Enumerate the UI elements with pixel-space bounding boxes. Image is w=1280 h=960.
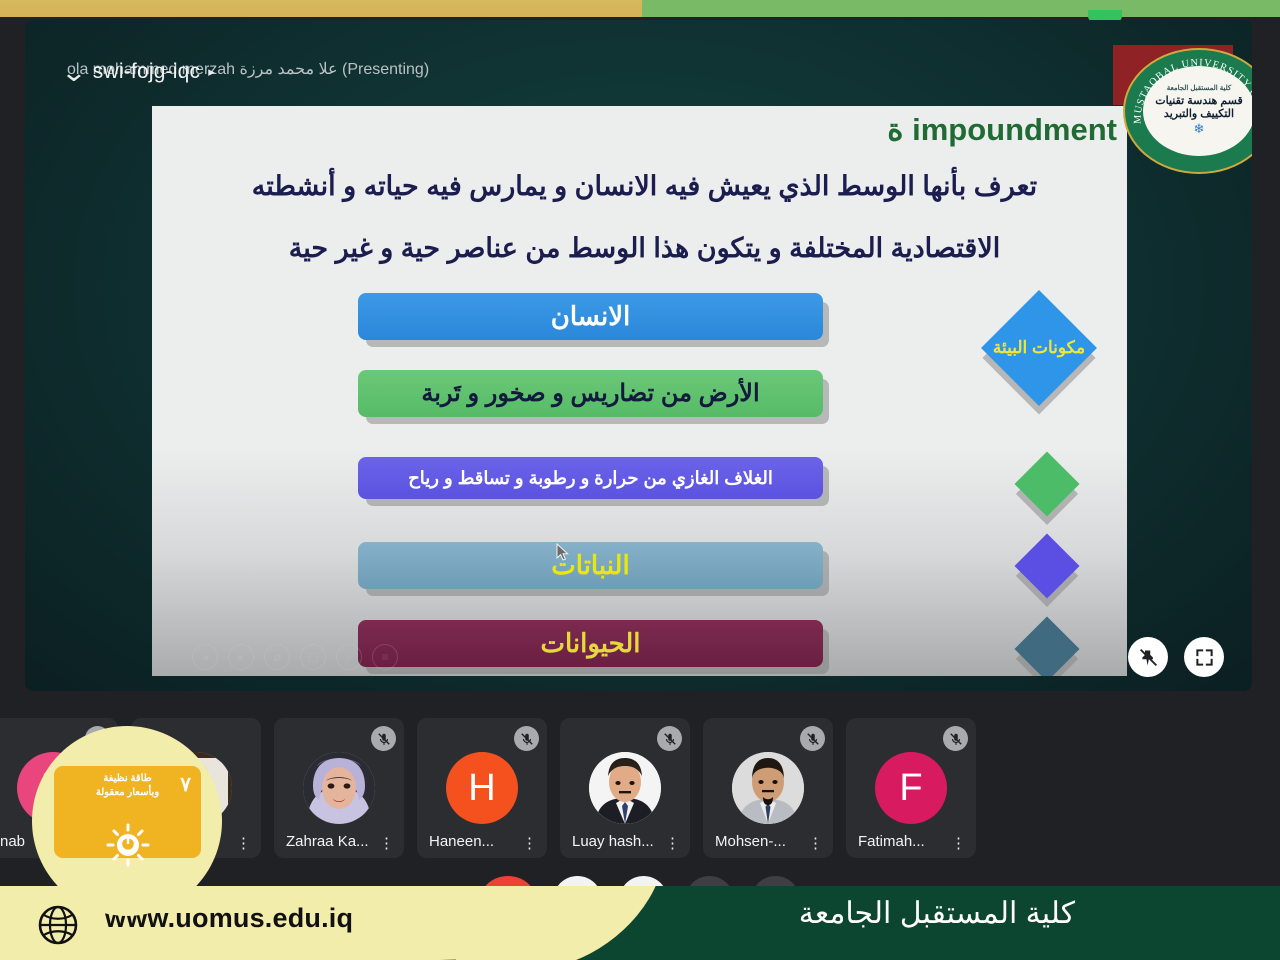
- participant-name: nab: [0, 833, 25, 850]
- more-vertical-icon[interactable]: ⋮: [808, 838, 823, 849]
- participant-name: Haneen...: [429, 833, 494, 850]
- more-vertical-icon[interactable]: ⋮: [665, 838, 680, 849]
- institution-banner: www.uomus.edu.iq كلية المستقبل الجامعة: [0, 886, 1280, 960]
- slide-title: impoundment ة: [687, 112, 1117, 148]
- stage-tool-buttons[interactable]: [1128, 637, 1224, 677]
- sdg-card: ٧ طاقة نظيفة وبأسعار معقولة: [54, 766, 201, 858]
- university-logo: AL-MUSTAQBAL UNIVERSITY COLLEGE كلية الم…: [1113, 45, 1252, 177]
- globe-icon: [37, 904, 79, 946]
- slide-grid-icon[interactable]: ▢: [300, 644, 326, 670]
- participant-name: Fatimah...: [858, 833, 925, 850]
- participant-tile[interactable]: Mohsen-... ⋮: [703, 718, 833, 858]
- avatar: [732, 752, 804, 824]
- more-vertical-icon[interactable]: ⋮: [236, 838, 251, 849]
- participant-name: Zahraa Ka...: [286, 833, 369, 850]
- more-vertical-icon[interactable]: ⋮: [951, 838, 966, 849]
- meeting-code-bar[interactable]: ⌄ swi-fojg-iqc ▸: [63, 60, 215, 84]
- slide-prev-button[interactable]: ◂: [192, 644, 218, 670]
- top-banner-strip: [0, 0, 1280, 17]
- slide-paragraph-line-2: الاقتصادية المختلفة و يتكون هذا الوسط من…: [182, 232, 1107, 266]
- app-root: ola mohammed merzah علا محمد مرزة (Prese…: [0, 0, 1280, 960]
- slide-bar-animals: الحيوانات: [358, 620, 823, 667]
- slide-control-strip[interactable]: ◂ ▸ ⌀ ▢ ⌕ ≡: [192, 644, 398, 670]
- slide-bar-atmosphere: الغلاف الغازي من حرارة و رطوبة و تساقط و…: [358, 457, 823, 499]
- chevron-right-icon[interactable]: ▸: [208, 64, 215, 80]
- unpin-icon: [1138, 647, 1159, 668]
- slide-diamond-green: [1014, 451, 1079, 516]
- avatar: [303, 752, 375, 824]
- sdg-line-1: طاقة نظيفة: [60, 772, 195, 786]
- more-vertical-icon[interactable]: ⋮: [522, 838, 537, 849]
- participant-tile[interactable]: Zahraa Ka... ⋮: [274, 718, 404, 858]
- institution-name-arabic: كلية المستقبل الجامعة: [799, 896, 1075, 931]
- logo-ring: AL-MUSTAQBAL UNIVERSITY COLLEGE كلية الم…: [1123, 48, 1252, 174]
- slide-diamond-purple: [1014, 533, 1079, 598]
- slide-bar-plants: النباتات: [358, 542, 823, 589]
- more-vertical-icon[interactable]: ⋮: [379, 838, 394, 849]
- participant-tile[interactable]: F Fatimah... ⋮: [846, 718, 976, 858]
- fullscreen-icon: [1195, 648, 1214, 667]
- shared-screen-stage[interactable]: ola mohammed merzah علا محمد مرزة (Prese…: [25, 20, 1252, 691]
- participant-name: Mohsen-...: [715, 833, 786, 850]
- presentation-slide: impoundment ة تعرف بأنها الوسط الذي يعيش…: [152, 106, 1127, 676]
- slide-menu-icon[interactable]: ≡: [372, 644, 398, 670]
- slide-next-button[interactable]: ▸: [228, 644, 254, 670]
- mouse-cursor-icon: [556, 543, 569, 561]
- top-strip-gold: [0, 0, 642, 17]
- top-strip-green: [642, 0, 1280, 17]
- chevron-down-icon[interactable]: ⌄: [60, 59, 87, 85]
- participant-name: Luay hash...: [572, 833, 654, 850]
- mic-off-icon: [943, 726, 968, 751]
- svg-text:AL-MUSTAQBAL UNIVERSITY COLLEG: AL-MUSTAQBAL UNIVERSITY COLLEGE: [1125, 50, 1252, 124]
- participant-tile[interactable]: Luay hash... ⋮: [560, 718, 690, 858]
- mic-off-icon: [657, 726, 682, 751]
- slide-diamond-main: مكونات البيئة: [981, 290, 1097, 406]
- logo-outer-text: AL-MUSTAQBAL UNIVERSITY COLLEGE: [1125, 50, 1252, 173]
- sdg-line-2: وبأسعار معقولة: [60, 786, 195, 800]
- sdg-text: طاقة نظيفة وبأسعار معقولة: [60, 772, 195, 799]
- fullscreen-button[interactable]: [1184, 637, 1224, 677]
- mic-off-icon: [371, 726, 396, 751]
- sun-power-icon: [100, 821, 156, 867]
- avatar: F: [875, 752, 947, 824]
- mic-off-icon: [514, 726, 539, 751]
- unpin-button[interactable]: [1128, 637, 1168, 677]
- mic-off-icon: [800, 726, 825, 751]
- avatar: H: [446, 752, 518, 824]
- participant-tile[interactable]: H Haneen... ⋮: [417, 718, 547, 858]
- meeting-code-label: swi-fojg-iqc: [93, 60, 200, 84]
- slide-bar-land: الأرض من تضاريس و صخور و تَربة: [358, 370, 823, 417]
- slide-zoom-icon[interactable]: ⌕: [336, 644, 362, 670]
- slide-diamond-label: مكونات البيئة: [998, 307, 1080, 389]
- slide-paragraph-line-1: تعرف بأنها الوسط الذي يعيش فيه الانسان و…: [182, 170, 1107, 204]
- avatar: [589, 752, 661, 824]
- slide-bar-human: الانسان: [358, 293, 823, 340]
- sdg-badge: ٧ طاقة نظيفة وبأسعار معقولة: [32, 726, 222, 916]
- slide-diamond-slate: [1014, 616, 1079, 676]
- slide-pen-icon[interactable]: ⌀: [264, 644, 290, 670]
